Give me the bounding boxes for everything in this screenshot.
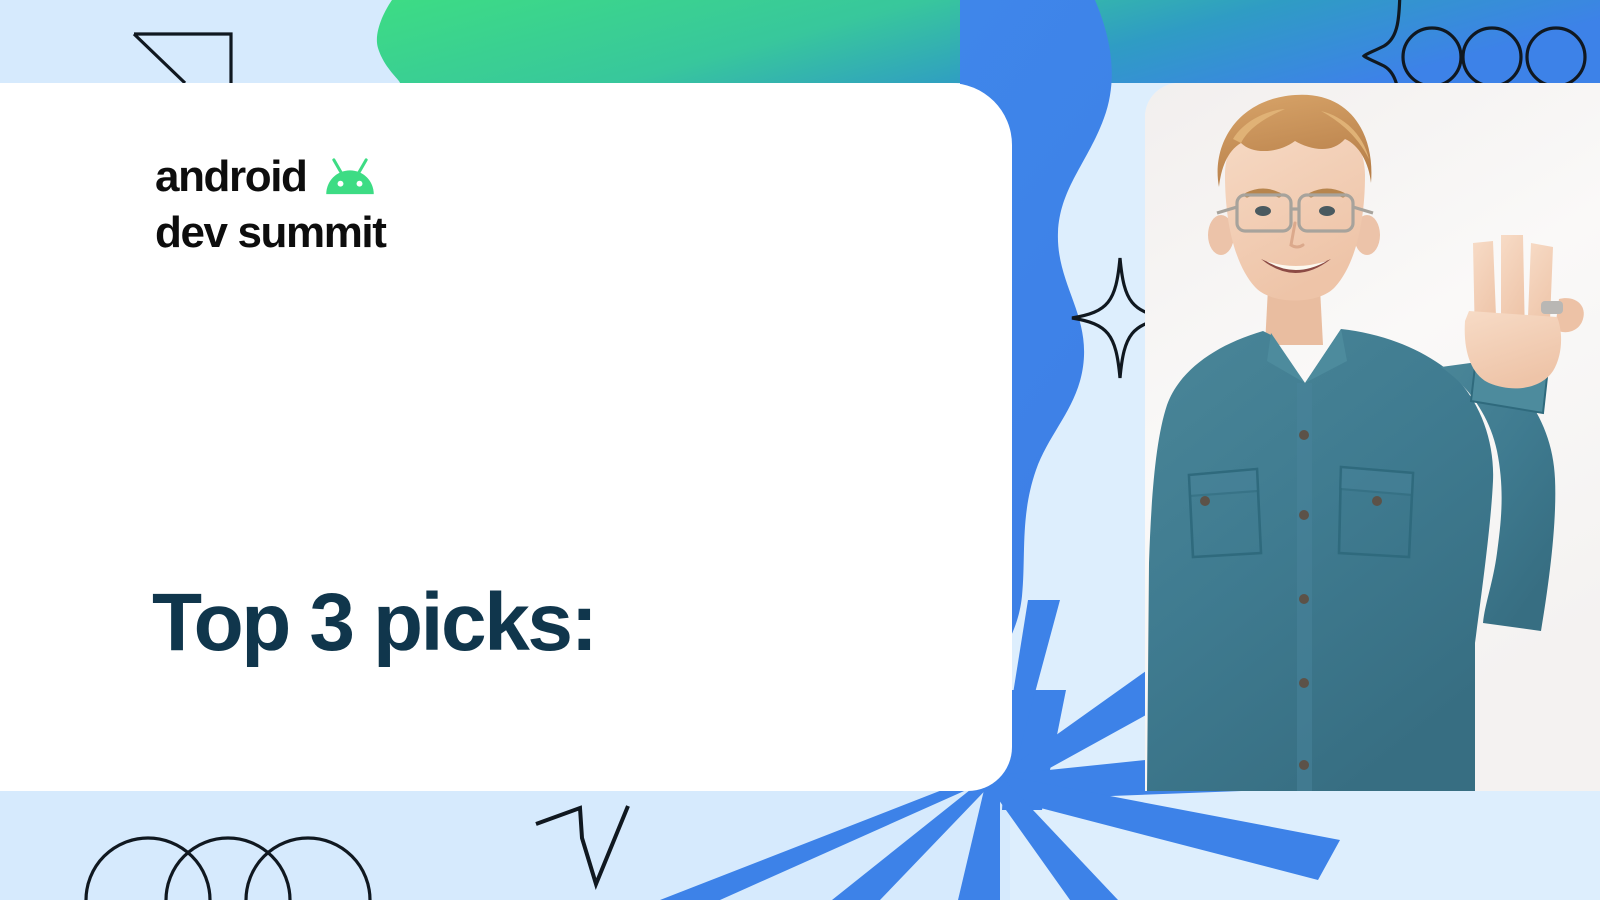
headline-line-1: Top 3 picks: [152,568,647,677]
logo-line-2: dev summit [155,211,386,255]
slide-canvas: android dev summit Top 3 picks: Form Fac… [0,0,1600,900]
page-title: Top 3 picks: Form Factors [152,350,647,900]
speaker-portrait [1145,83,1600,791]
event-logo: android dev summit [155,155,386,255]
logo-word-android: android [155,155,307,199]
headline-line-2: Form Factors [152,895,647,900]
logo-line-1: android [155,155,379,199]
speaker-photo-panel [1145,83,1600,791]
three-circles-outline-top-right [1403,28,1585,86]
android-robot-head-icon [321,158,379,196]
finger-ring [1541,301,1563,314]
triangle-outline-top-left [134,34,231,83]
logo-word-dev-summit: dev summit [155,208,386,257]
